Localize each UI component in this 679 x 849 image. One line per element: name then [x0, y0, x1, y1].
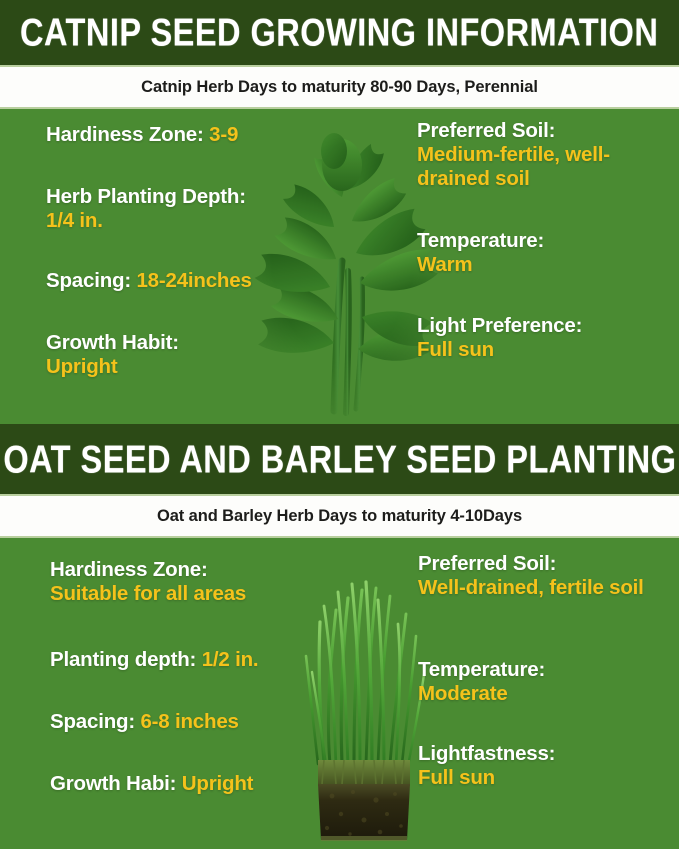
fact-value: Full sun	[418, 766, 555, 790]
fact-planting-depth: Planting depth: 1/2 in.	[50, 648, 258, 672]
fact-label: Hardiness Zone:	[46, 123, 204, 146]
fact-growth-habit: Growth Habit: Upright	[46, 331, 179, 379]
fact-value: Upright	[46, 355, 179, 379]
content-panel-catnip: Hardiness Zone: 3-9 Herb Planting Depth:…	[0, 109, 679, 424]
fact-hardiness-zone: Hardiness Zone: 3-9	[46, 123, 238, 147]
fact-value: Medium-fertile, well-drained soil	[417, 143, 667, 191]
fact-lightfastness: Lightfastness: Full sun	[418, 742, 555, 790]
section-banner-catnip: CATNIP SEED GROWING INFORMATION	[0, 0, 679, 65]
fact-value: 1/2 in.	[202, 648, 259, 671]
fact-value: 6-8 inches	[140, 710, 238, 733]
fact-value: Warm	[417, 253, 544, 277]
fact-value: 1/4 in.	[46, 209, 246, 233]
fact-spacing: Spacing: 6-8 inches	[50, 710, 239, 734]
fact-value: Moderate	[418, 682, 545, 706]
fact-value: 18-24inches	[136, 269, 251, 292]
subtitle-catnip: Catnip Herb Days to maturity 80-90 Days,…	[141, 78, 538, 97]
content-panel-oat-barley: Hardiness Zone: Suitable for all areas P…	[0, 538, 679, 849]
fact-light-preference: Light Preference: Full sun	[417, 314, 582, 362]
fact-temperature: Temperature: Moderate	[418, 658, 545, 706]
fact-spacing: Spacing: 18-24inches	[46, 269, 252, 293]
infographic-poster: CATNIP SEED GROWING INFORMATION Catnip H…	[0, 0, 679, 849]
banner-title-oat-barley: OAT SEED AND BARLEY SEED PLANTING	[3, 439, 676, 478]
fact-preferred-soil: Preferred Soil: Well-drained, fertile so…	[418, 552, 648, 600]
fact-label: Temperature:	[418, 658, 545, 682]
subtitle-oat-barley: Oat and Barley Herb Days to maturity 4-1…	[157, 507, 522, 526]
fact-label: Herb Planting Depth:	[46, 185, 246, 209]
section-banner-oat-barley: OAT SEED AND BARLEY SEED PLANTING	[0, 424, 679, 494]
fact-label: Growth Habit:	[46, 331, 179, 355]
fact-label: Spacing:	[46, 269, 131, 292]
fact-hardiness-zone: Hardiness Zone: Suitable for all areas	[50, 558, 246, 606]
fact-label: Temperature:	[417, 229, 544, 253]
fact-label: Planting depth:	[50, 648, 196, 671]
fact-value: Upright	[182, 772, 253, 795]
fact-value: Full sun	[417, 338, 582, 362]
fact-planting-depth: Herb Planting Depth: 1/4 in.	[46, 185, 246, 233]
fact-temperature: Temperature: Warm	[417, 229, 544, 277]
fact-label: Preferred Soil:	[417, 119, 667, 143]
fact-value: Well-drained, fertile soil	[418, 576, 648, 600]
fact-label: Growth Habi:	[50, 772, 176, 795]
fact-label: Hardiness Zone:	[50, 558, 246, 582]
fact-label: Lightfastness:	[418, 742, 555, 766]
subtitle-strip-oat-barley: Oat and Barley Herb Days to maturity 4-1…	[0, 496, 679, 536]
banner-title-catnip: CATNIP SEED GROWING INFORMATION	[20, 13, 658, 52]
fact-value: 3-9	[209, 123, 238, 146]
fact-value: Suitable for all areas	[50, 582, 246, 606]
fact-label: Preferred Soil:	[418, 552, 648, 576]
fact-preferred-soil: Preferred Soil: Medium-fertile, well-dra…	[417, 119, 667, 191]
subtitle-strip-catnip: Catnip Herb Days to maturity 80-90 Days,…	[0, 67, 679, 107]
fact-label: Spacing:	[50, 710, 135, 733]
fact-growth-habit: Growth Habi: Upright	[50, 772, 253, 796]
fact-label: Light Preference:	[417, 314, 582, 338]
